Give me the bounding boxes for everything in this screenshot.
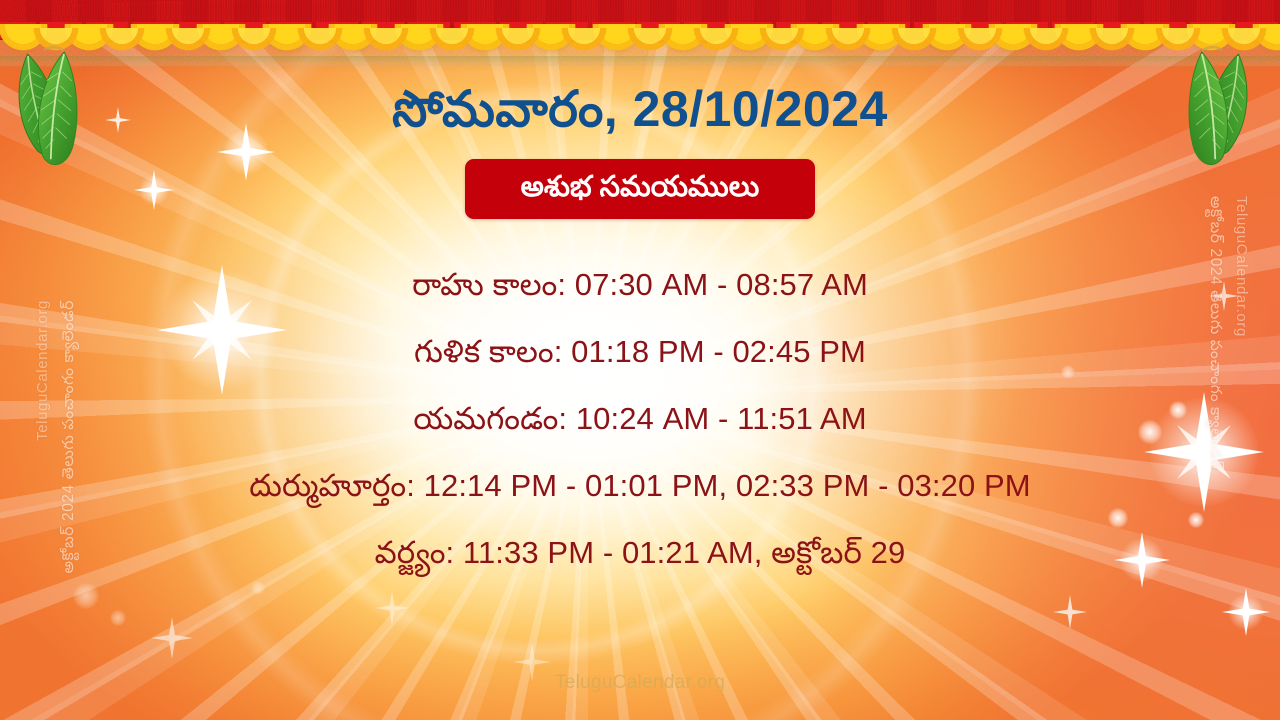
poster-content: సోమవారం, 28/10/2024 అశుభ సమయములు రాహు కా… [0, 0, 1280, 720]
page-title: సోమవారం, 28/10/2024 [392, 82, 888, 137]
status-badge: అశుభ సమయములు [465, 159, 816, 219]
timings-list: రాహు కాలం: 07:30 AM - 08:57 AM గుళిక కాల… [0, 251, 1280, 586]
list-item: యమగండం: 10:24 AM - 11:51 AM [413, 385, 866, 452]
list-item: రాహు కాలం: 07:30 AM - 08:57 AM [412, 251, 868, 318]
list-item: వర్జ్యం: 11:33 PM - 01:21 AM, అక్టోబర్ 2… [375, 519, 906, 586]
list-item: గుళిక కాలం: 01:18 PM - 02:45 PM [414, 318, 866, 385]
panchangam-poster: అక్టోబర్ 2024 తెలుగు పంచాంగం క్యాలెండర్ … [0, 0, 1280, 720]
list-item: దుర్ముహూర్తం: 12:14 PM - 01:01 PM, 02:33… [249, 452, 1030, 519]
